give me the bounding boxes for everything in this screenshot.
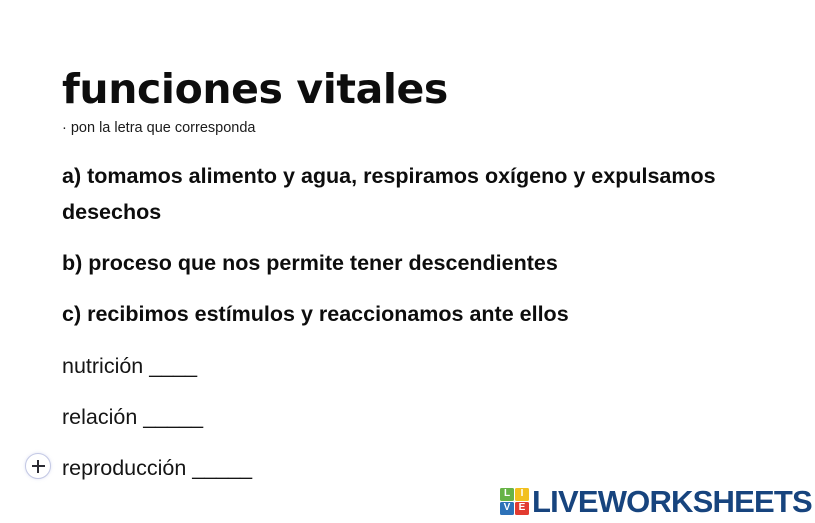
worksheet-canvas: funciones vitales · pon la letra que cor… xyxy=(0,0,815,523)
statement-b: b) proceso que nos permite tener descend… xyxy=(62,245,752,281)
liveworksheets-logo: L I V E LIVEWORKSHEETS xyxy=(500,484,812,518)
plus-circle-icon[interactable] xyxy=(25,453,51,479)
answer-line-relacion[interactable]: relación _____ xyxy=(62,401,203,433)
statement-a: a) tomamos alimento y agua, respiramos o… xyxy=(62,158,752,230)
answer-line-reproduccion[interactable]: reproducción _____ xyxy=(62,452,252,484)
answer-line-nutricion[interactable]: nutrición ____ xyxy=(62,350,197,382)
logo-cell-v: V xyxy=(500,502,514,515)
liveworksheets-wordmark: LIVEWORKSHEETS xyxy=(532,486,812,517)
liveworksheets-logo-mark: L I V E xyxy=(500,488,529,515)
page-title: funciones vitales xyxy=(62,69,448,110)
instruction-text: · pon la letra que corresponda xyxy=(62,120,255,136)
plus-icon xyxy=(32,460,45,473)
statement-c: c) recibimos estímulos y reaccionamos an… xyxy=(62,296,752,332)
logo-cell-i: I xyxy=(515,488,529,501)
logo-cell-e: E xyxy=(515,502,529,515)
logo-cell-l: L xyxy=(500,488,514,501)
